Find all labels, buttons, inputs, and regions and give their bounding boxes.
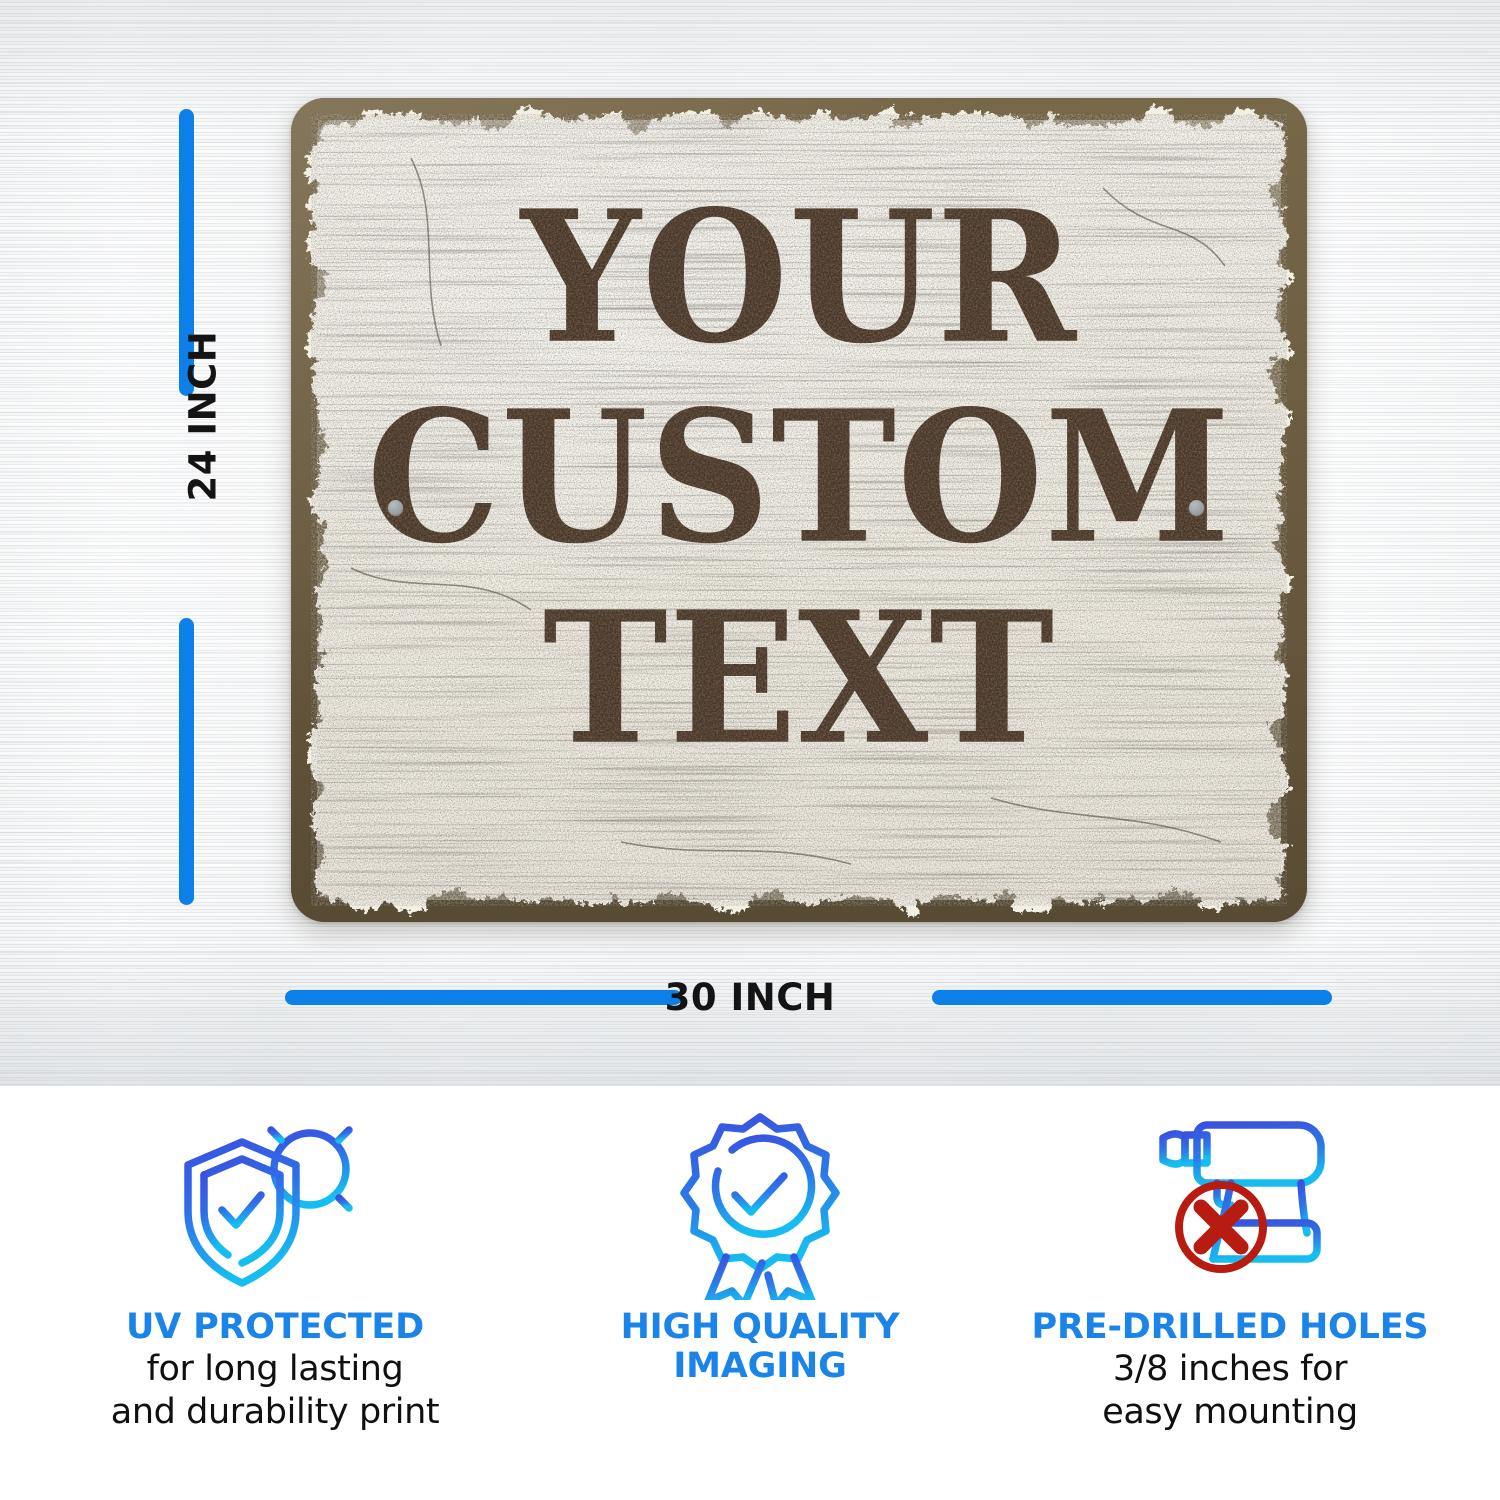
- metal-sign: YOUR CUSTOM TEXT: [291, 98, 1307, 922]
- feature-heading: PRE-DRILLED HOLES: [985, 1308, 1475, 1347]
- metal-background: 24 INCH 30 INCH: [0, 0, 1500, 1086]
- sign-scratches: [291, 98, 1307, 922]
- quality-badge-icon: [525, 1102, 995, 1302]
- dimension-height-label: 24 INCH: [182, 382, 225, 502]
- feature-subtext-line-1: for long lasting: [40, 1349, 510, 1390]
- feature-pre-drilled-holes: PRE-DRILLED HOLES 3/8 inches for easy mo…: [985, 1102, 1475, 1432]
- features-panel: UV PROTECTED for long lasting and durabi…: [0, 1086, 1500, 1500]
- mounting-hole-left: [388, 500, 403, 515]
- uv-shield-sun-icon: [40, 1102, 510, 1302]
- feature-high-quality-imaging: HIGH QUALITY IMAGING: [525, 1102, 995, 1386]
- feature-heading: UV PROTECTED: [40, 1308, 510, 1347]
- no-drill-icon: [985, 1102, 1475, 1302]
- mounting-hole-right: [1189, 500, 1204, 515]
- feature-subtext-line-2: and durability print: [40, 1392, 510, 1433]
- dimension-bar-right: [932, 990, 1332, 1005]
- feature-subtext-line-1: 3/8 inches for: [985, 1349, 1475, 1390]
- product-infographic: 24 INCH 30 INCH: [0, 0, 1500, 1500]
- feature-uv-protected: UV PROTECTED for long lasting and durabi…: [40, 1102, 510, 1432]
- feature-subtext-line-2: easy mounting: [985, 1392, 1475, 1433]
- feature-heading-line-1: HIGH QUALITY: [525, 1308, 995, 1347]
- dimension-bar-bottom: [179, 618, 194, 905]
- sign-face: YOUR CUSTOM TEXT: [291, 98, 1307, 922]
- feature-heading-line-2: IMAGING: [525, 1347, 995, 1386]
- dimension-width-label: 30 INCH: [640, 976, 860, 1019]
- dimension-bar-left: [285, 990, 682, 1005]
